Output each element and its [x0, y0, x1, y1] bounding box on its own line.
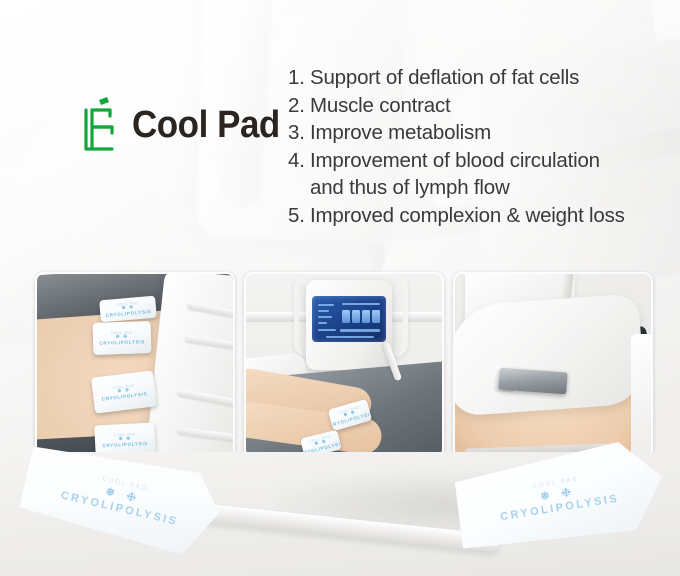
photo-panel-1: COOL PAD ❅ ❉ CRYOLIPOLYSIS COOL PAD ❅ ❉ … — [35, 272, 235, 458]
logo-tick-icon — [99, 97, 109, 105]
feature-list: 1. Support of deflation of fat cells 2. … — [288, 64, 638, 229]
white-towel-wrap — [455, 293, 646, 416]
feature-number-1: 1. — [288, 64, 310, 92]
feature-text-4: Improvement of blood circulation and thu… — [310, 147, 638, 202]
feature-number-2: 2. — [288, 92, 310, 120]
feature-text-2: Muscle contract — [310, 92, 638, 120]
photo-panel-2-content: COOL PAD ❅ ❉ CRYOLIPOLYSIS COOL PAD ❅ ❉ … — [246, 274, 442, 456]
feature-number-5: 5. — [288, 202, 310, 230]
feature-item-3: 3. Improve metabolism — [288, 119, 638, 147]
feature-number-4: 4. — [288, 147, 310, 202]
photo-panel-2: COOL PAD ❅ ❉ CRYOLIPOLYSIS COOL PAD ❅ ❉ … — [244, 272, 444, 458]
feature-text-3: Improve metabolism — [310, 119, 638, 147]
cool-pad-e-logo-icon — [78, 96, 122, 154]
foreground-product-area: COOL PAD ❅ ❉ CRYOLIPOLYSIS COOL PAD ❅ ❉ … — [0, 452, 680, 576]
side-equipment — [631, 334, 651, 456]
brand-logo: Cool Pad — [78, 96, 293, 154]
pad-label-main-2: CRYOLIPOLYSIS — [99, 339, 145, 346]
treatment-pad-4: COOL PAD ❅ ❉ CRYOLIPOLYSIS — [94, 422, 156, 456]
brand-name: Cool Pad — [132, 106, 280, 144]
pad-label-main-4: CRYOLIPOLYSIS — [102, 441, 148, 448]
machine-touchscreen[interactable] — [312, 296, 386, 342]
pad-label-main-1: CRYOLIPOLYSIS — [105, 309, 151, 318]
treatment-pad-2: COOL PAD ❅ ❉ CRYOLIPOLYSIS — [92, 321, 151, 355]
feature-text-5: Improved complexion & weight loss — [310, 202, 638, 230]
photo-panel-3 — [453, 272, 653, 458]
feature-text-1: Support of deflation of fat cells — [310, 64, 638, 92]
product-banner: Cool Pad 1. Support of deflation of fat … — [0, 0, 680, 576]
feature-item-5: 5. Improved complexion & weight loss — [288, 202, 638, 230]
photo-panel-3-content — [455, 274, 651, 456]
treatment-pad-3: COOL PAD ❅ ❉ CRYOLIPOLYSIS — [91, 370, 157, 413]
gray-applicator-pad — [498, 368, 567, 395]
photo-panel-row: COOL PAD ❅ ❉ CRYOLIPOLYSIS COOL PAD ❅ ❉ … — [35, 272, 653, 458]
feature-number-3: 3. — [288, 119, 310, 147]
photo-panel-1-content: COOL PAD ❅ ❉ CRYOLIPOLYSIS COOL PAD ❅ ❉ … — [37, 274, 233, 456]
feature-item-4: 4. Improvement of blood circulation and … — [288, 147, 638, 202]
feature-item-2: 2. Muscle contract — [288, 92, 638, 120]
feature-item-1: 1. Support of deflation of fat cells — [288, 64, 638, 92]
